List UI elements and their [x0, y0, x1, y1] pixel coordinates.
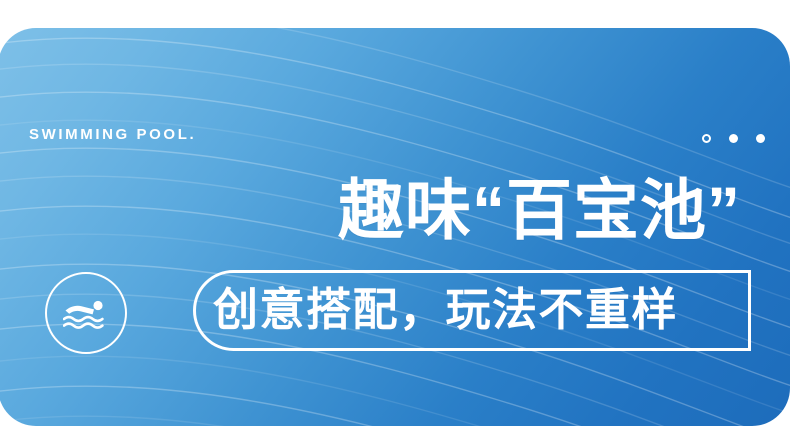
swimmer-badge — [45, 272, 127, 354]
swimming-pool-banner: SWIMMING POOL. 趣味“百宝池” 创意搭配，玩法不重样 — [0, 0, 790, 443]
banner-title: 趣味“百宝池” — [338, 176, 741, 245]
subtitle-frame: 创意搭配，玩法不重样 — [193, 270, 751, 351]
dot-filled-icon — [729, 134, 738, 143]
eyebrow-text: SWIMMING POOL. — [29, 127, 196, 142]
dot-filled-icon — [756, 134, 765, 143]
banner-card: SWIMMING POOL. 趣味“百宝池” 创意搭配，玩法不重样 — [0, 28, 790, 426]
dots-decoration — [702, 134, 765, 143]
banner-subtitle: 创意搭配，玩法不重样 — [213, 287, 678, 332]
swimmer-icon — [63, 296, 109, 330]
dot-ring-icon — [702, 134, 711, 143]
